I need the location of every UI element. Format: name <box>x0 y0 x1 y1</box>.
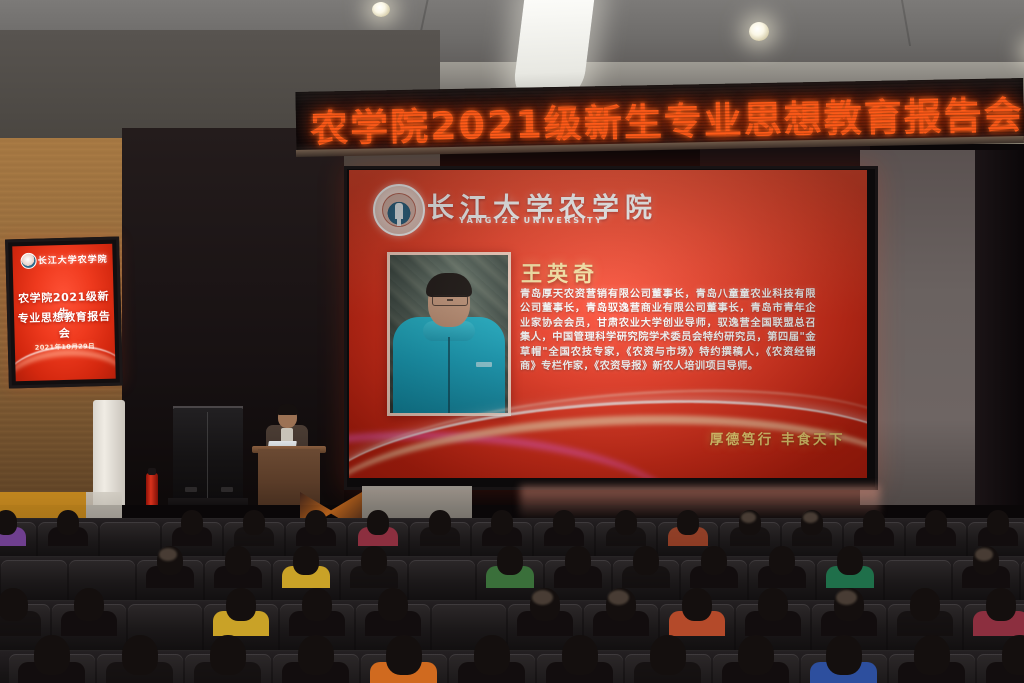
audience-person-head <box>57 510 79 534</box>
audience-person-head <box>293 546 319 575</box>
audience-person-head <box>633 546 659 575</box>
audience-person-head <box>367 510 389 534</box>
side-monitor: 长江大学农学院 农学院2021级新生 专业思想教育报告会 2021年10月29日 <box>5 237 123 389</box>
audience-person-head <box>553 510 575 534</box>
pa-speaker-divider <box>207 412 208 498</box>
ceiling-downlight-icon <box>749 22 769 41</box>
audience-person-head <box>565 546 591 575</box>
audience-person-head <box>925 510 947 534</box>
audience-person-head <box>302 588 332 621</box>
audience-person-head <box>226 588 256 621</box>
audience-person-head <box>837 546 863 575</box>
audience-person-head <box>378 588 408 621</box>
audience-person-head <box>429 510 451 534</box>
presenter-hair <box>277 404 298 415</box>
audience-person-head <box>474 635 510 675</box>
main-presentation-screen: 长江大学农学院 YANGTZE UNIVERSITY 王英奇 青岛厚天农资营销有… <box>349 170 867 478</box>
audience-person-head <box>497 546 523 575</box>
audience-person-head <box>863 510 885 534</box>
audience-person-head <box>677 510 699 534</box>
auditorium-photo: 农学院2021级新生专业思想教育报告会 长江大学农学院 YANGTZE UNIV… <box>0 0 1024 683</box>
audience-person-head <box>650 635 686 675</box>
audience-person-head <box>0 588 28 621</box>
audience-person-head <box>361 546 387 575</box>
side-monitor-screen: 长江大学农学院 农学院2021级新生 专业思想教育报告会 2021年10月29日 <box>12 244 115 382</box>
audience-person-head <box>74 588 104 621</box>
audience-person-head <box>914 635 950 675</box>
audience-person-head <box>34 635 70 675</box>
ceiling-downlight-icon <box>372 2 390 17</box>
pa-speaker-port <box>185 487 197 492</box>
audience-person-head <box>305 510 327 534</box>
audience-person-head <box>386 635 422 675</box>
audience-person-head <box>243 510 265 534</box>
right-wall-shadow <box>975 150 1024 510</box>
side-university-name: 长江大学农学院 <box>37 252 107 267</box>
audience-person-head <box>298 635 334 675</box>
audience-person-head <box>562 635 598 675</box>
audience-person-head <box>0 510 17 534</box>
ceiling-seam <box>901 0 911 46</box>
audience-person-head <box>701 546 727 575</box>
audience-person-head <box>181 510 203 534</box>
audience-person-head <box>1002 635 1024 675</box>
pa-speaker-port <box>221 487 233 492</box>
audience-person-head <box>910 588 940 621</box>
audience-person-head <box>987 510 1009 534</box>
audience-person-head <box>122 635 158 675</box>
side-university-seal-icon <box>20 253 36 269</box>
audience-person-head <box>738 635 774 675</box>
audience-person-head <box>491 510 513 534</box>
screen-vignette <box>349 170 867 478</box>
side-title-line2: 专业思想教育报告会 <box>14 308 115 343</box>
audience-person-head <box>682 588 712 621</box>
audience-person-head <box>826 635 862 675</box>
audience-person-head <box>758 588 788 621</box>
audience-person-head <box>769 546 795 575</box>
audience-person-head <box>210 635 246 675</box>
audience-person-head <box>615 510 637 534</box>
audience-area <box>0 500 1024 683</box>
audience-person-head <box>225 546 251 575</box>
fire-extinguisher-nozzle <box>148 468 156 475</box>
audience-person-head <box>986 588 1016 621</box>
